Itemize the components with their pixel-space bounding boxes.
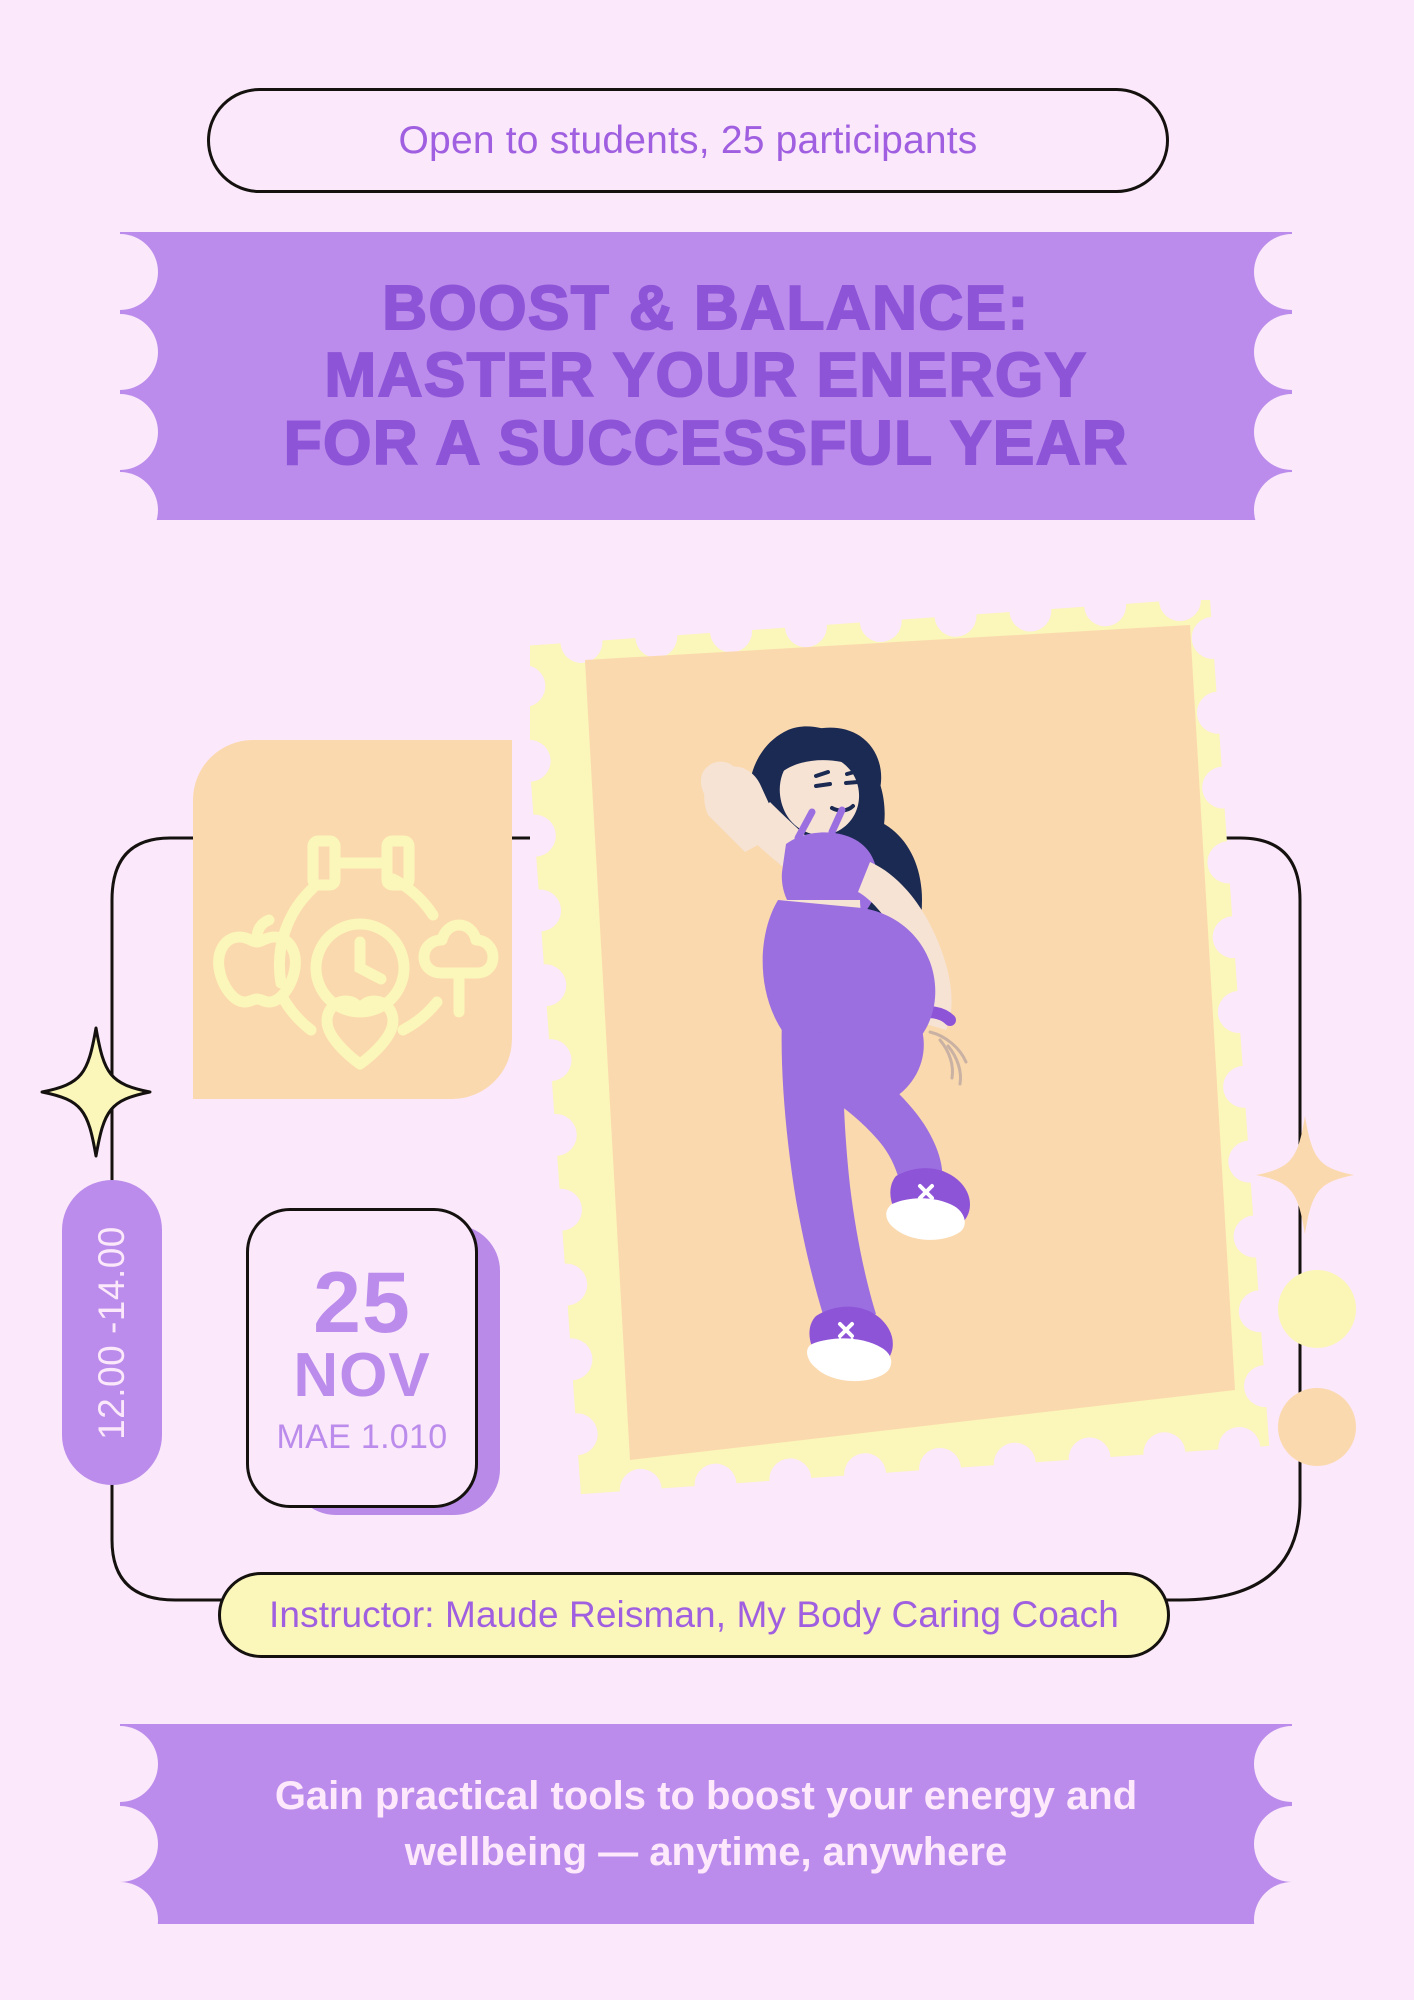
footer-banner: Gain practical tools to boost your energ… — [120, 1724, 1292, 1924]
title-line-2: Master your energy — [324, 344, 1087, 407]
time-pill: 12.00 -14.00 — [62, 1180, 162, 1485]
title-line-1: Boost & Balance: — [382, 277, 1029, 340]
stamp-graphic — [530, 600, 1290, 1520]
title-line-3: for a successful year — [284, 412, 1129, 475]
title-banner: Boost & Balance: Master your energy for … — [120, 232, 1292, 520]
illustration-stamp — [530, 600, 1290, 1520]
wellness-icon-card-shape — [193, 740, 512, 1099]
footer-line-2: wellbeing — anytime, anywhere — [405, 1830, 1007, 1874]
time-label: 12.00 -14.00 — [91, 1226, 133, 1440]
date-card: 25 NOV MAE 1.010 — [246, 1208, 478, 1508]
date-room: MAE 1.010 — [277, 1418, 448, 1457]
yellow-circle — [1278, 1270, 1356, 1348]
footer-text-group: Gain practical tools to boost your energ… — [120, 1724, 1292, 1924]
date-month: NOV — [293, 1347, 430, 1406]
poster-canvas: Open to students, 25 participants — [0, 0, 1414, 2000]
footer-line-1: Gain practical tools to boost your energ… — [275, 1774, 1137, 1818]
sparkle-star-left — [36, 1022, 156, 1162]
peach-circle — [1278, 1388, 1356, 1466]
header-pill-label: Open to students, 25 participants — [399, 119, 978, 163]
instructor-pill[interactable]: Instructor: Maude Reisman, My Body Carin… — [218, 1572, 1170, 1658]
title-text-group: Boost & Balance: Master your energy for … — [120, 232, 1292, 520]
header-pill[interactable]: Open to students, 25 participants — [207, 88, 1169, 193]
date-day: 25 — [313, 1263, 411, 1345]
sparkle-star-right — [1250, 1110, 1360, 1240]
instructor-label: Instructor: Maude Reisman, My Body Carin… — [269, 1594, 1119, 1636]
wellness-icon-card — [193, 740, 512, 1099]
